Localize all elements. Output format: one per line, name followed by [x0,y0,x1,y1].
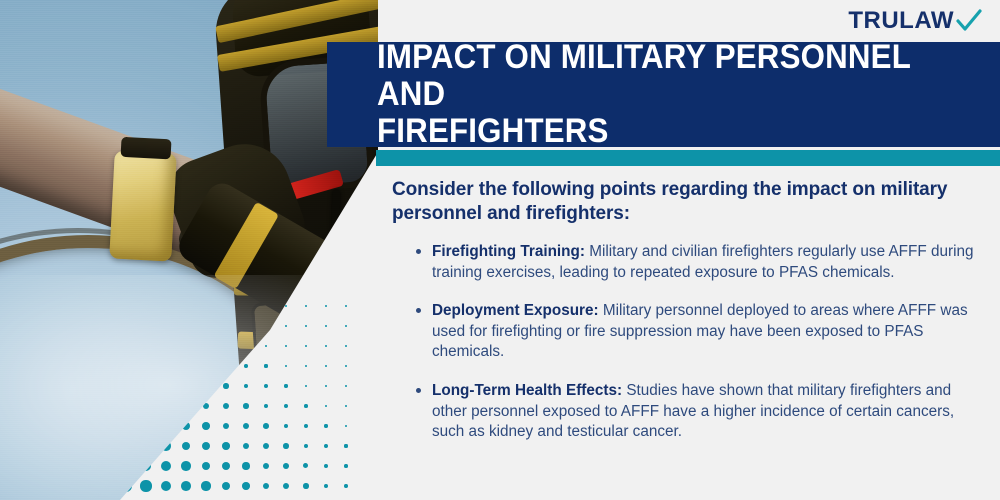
halftone-dot [325,325,327,327]
halftone-dot [244,384,249,389]
halftone-dot [181,481,191,491]
halftone-dot [324,444,328,448]
halftone-dot [140,480,151,491]
halftone-dot [345,425,348,428]
halftone-dot [305,385,308,388]
halftone-dot [325,345,327,347]
halftone-dot [161,461,171,471]
halftone-dot [345,405,347,407]
halftone-dot [264,364,267,367]
halftone-dot [242,462,249,469]
halftone-dot [222,482,230,490]
halftone-dot [264,404,269,409]
halftone-dot [345,325,347,327]
halftone-dot [244,364,248,368]
halftone-dot [285,345,287,347]
halftone-dot [305,325,307,327]
halftone-dot [283,483,289,489]
halftone-dot [324,484,328,488]
halftone-dot [243,403,249,409]
halftone-dot [223,423,230,430]
bullet-marker-icon [416,308,421,313]
halftone-dot [304,424,308,428]
halftone-dot [285,325,287,327]
halftone-dot [242,482,250,490]
halftone-dot [181,461,190,470]
halftone-dot [202,442,210,450]
halftone-dot [344,444,347,447]
halftone-dot [325,405,328,408]
title-banner: IMPACT ON MILITARY PERSONNEL AND FIREFIG… [327,42,1000,147]
halftone-dot [325,365,327,367]
halftone-dot [324,464,328,468]
halftone-dot [284,404,288,408]
halftone-dot [284,384,287,387]
checkmark-icon [956,8,982,34]
bullet-marker-icon [416,249,421,254]
halftone-dot [263,483,270,490]
halftone-dot [202,462,211,471]
halftone-dot [324,424,327,427]
halftone-dot [304,444,309,449]
halftone-dot [264,384,268,388]
halftone-dot [305,345,307,347]
bullet-list: Firefighting Training: Military and civi… [378,242,986,443]
infographic-canvas: TRULAW IMPACT ON MILITARY PERSONNEL AND … [0,0,1000,500]
halftone-dot [263,463,270,470]
halftone-dot [222,462,230,470]
bullet-item: Firefighting Training: Military and civi… [416,242,986,283]
bullet-label: Deployment Exposure: [432,302,599,319]
halftone-dot [305,305,307,307]
halftone-dot [223,383,228,388]
halftone-dot [201,481,210,490]
trulaw-logo[interactable]: TRULAW [848,8,982,34]
halftone-dot [285,305,287,307]
halftone-dot [344,484,348,488]
halftone-dot [325,305,327,307]
halftone-dot [202,422,210,430]
halftone-dot [265,345,267,347]
bullet-marker-icon [416,388,421,393]
halftone-dot [303,463,308,468]
halftone-dot [345,385,347,387]
halftone-dot [222,442,230,450]
halftone-dot [284,424,289,429]
content-column: Consider the following points regarding … [378,178,986,443]
halftone-dot [283,463,289,469]
teal-accent-bar [376,150,1000,166]
halftone-dot [345,345,347,347]
halftone-dot [344,464,348,468]
halftone-dot [305,365,307,367]
halftone-dot [325,385,327,387]
halftone-dot [223,403,229,409]
intro-text: Consider the following points regarding … [392,178,986,226]
halftone-dot [345,365,347,367]
halftone-dot [161,481,172,492]
bullet-item: Deployment Exposure: Military personnel … [416,301,986,363]
bullet-label: Firefighting Training: [432,243,585,260]
halftone-dot [304,404,308,408]
page-title: IMPACT ON MILITARY PERSONNEL AND FIREFIG… [377,39,934,149]
halftone-dot [263,423,269,429]
bullet-label: Long-Term Health Effects: [432,382,622,399]
bullet-item: Long-Term Health Effects: Studies have s… [416,381,986,443]
halftone-dot [283,443,288,448]
halftone-dot [285,365,288,368]
logo-wordmark: TRULAW [848,9,954,33]
halftone-dot [263,443,269,449]
halftone-dot [182,442,191,451]
halftone-dot [243,423,249,429]
halftone-dot [303,483,308,488]
halftone-dot [345,305,347,307]
halftone-dot [243,443,250,450]
